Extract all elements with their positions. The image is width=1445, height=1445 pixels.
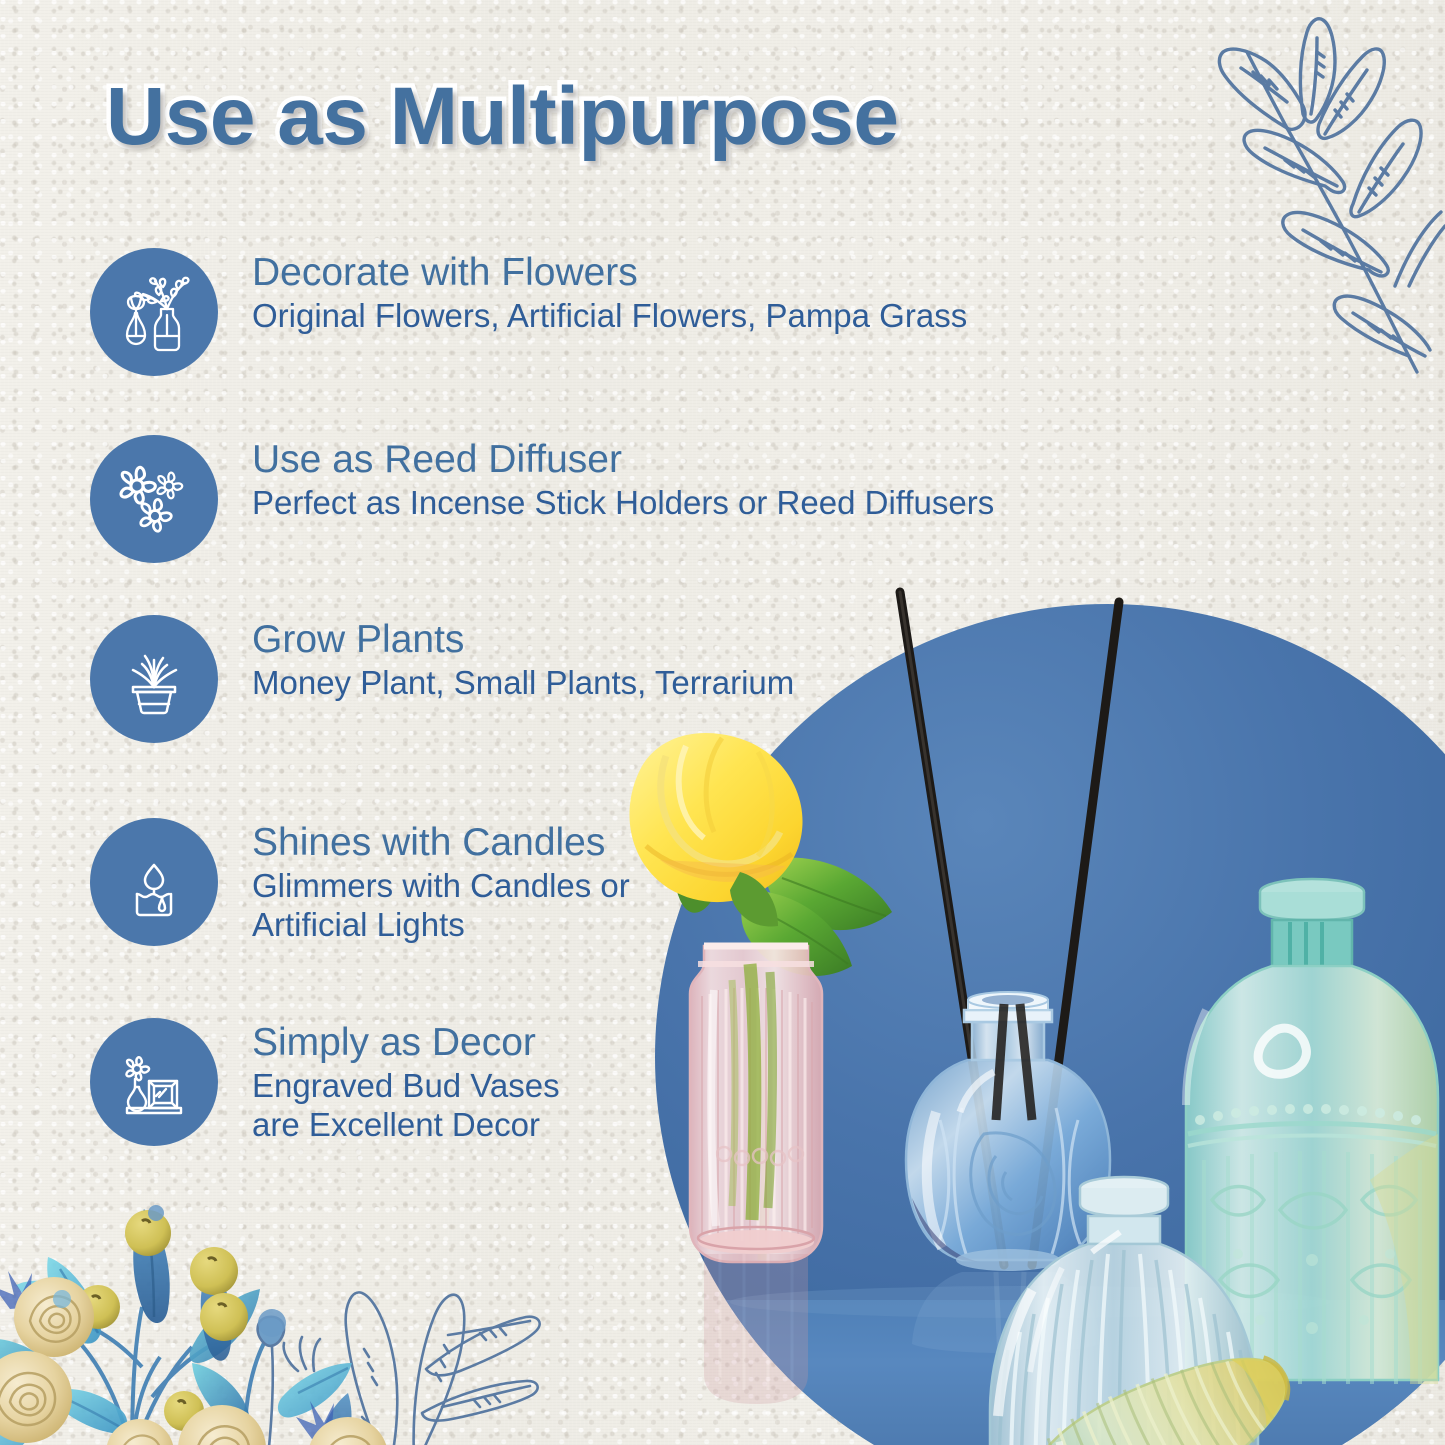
- feature-subtext: Glimmers with Candles or Artificial Ligh…: [252, 867, 630, 944]
- infographic-canvas: Use as Multipurpose: [0, 0, 1445, 1445]
- feature-heading: Use as Reed Diffuser: [252, 439, 994, 480]
- feature-heading: Shines with Candles: [252, 822, 630, 863]
- feature-item-simply-as-decor[interactable]: Simply as Decor Engraved Bud Vases are E…: [90, 1018, 560, 1146]
- vase-and-picture-frame-icon: [111, 1039, 197, 1125]
- three-flowers-icon: [111, 456, 197, 542]
- potted-plant-icon: [111, 636, 197, 722]
- feature-icon-badge: [90, 615, 218, 743]
- feature-text: Shines with Candles Glimmers with Candle…: [252, 818, 630, 945]
- feature-heading: Simply as Decor: [252, 1022, 560, 1063]
- product-photo-illustration: [600, 560, 1445, 1445]
- feature-heading: Decorate with Flowers: [252, 252, 967, 293]
- feature-item-shines-with-candles[interactable]: Shines with Candles Glimmers with Candle…: [90, 818, 630, 946]
- feature-text: Decorate with Flowers Original Flowers, …: [252, 248, 967, 336]
- feature-item-decorate-with-flowers[interactable]: Decorate with Flowers Original Flowers, …: [90, 248, 967, 376]
- feature-icon-badge: [90, 818, 218, 946]
- feature-item-reed-diffuser[interactable]: Use as Reed Diffuser Perfect as Incense …: [90, 435, 994, 563]
- vases-with-branches-icon: [111, 269, 197, 355]
- feature-icon-badge: [90, 248, 218, 376]
- feature-icon-badge: [90, 1018, 218, 1146]
- feature-subtext: Original Flowers, Artificial Flowers, Pa…: [252, 297, 967, 336]
- feature-text: Simply as Decor Engraved Bud Vases are E…: [252, 1018, 560, 1145]
- product-photo: [600, 560, 1445, 1445]
- feature-subtext: Perfect as Incense Stick Holders or Reed…: [252, 484, 994, 523]
- feature-text: Use as Reed Diffuser Perfect as Incense …: [252, 435, 994, 523]
- feature-subtext: Engraved Bud Vases are Excellent Decor: [252, 1067, 560, 1144]
- feature-icon-badge: [90, 435, 218, 563]
- lit-candle-icon: [111, 839, 197, 925]
